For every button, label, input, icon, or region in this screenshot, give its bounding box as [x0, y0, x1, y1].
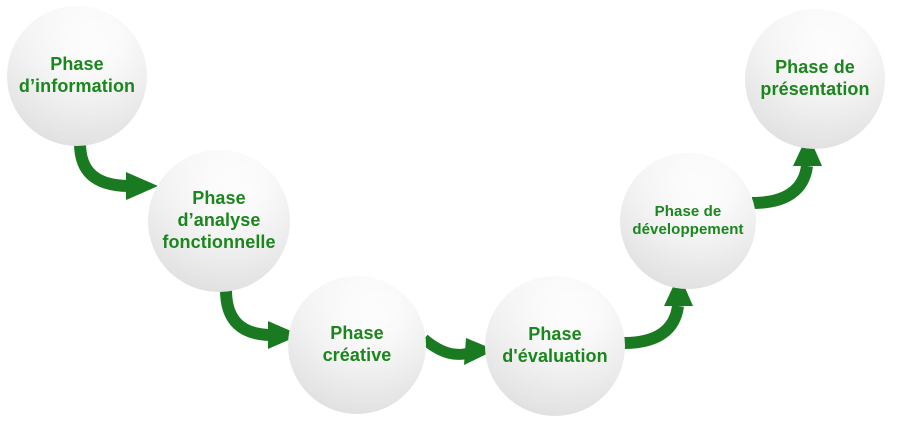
node-label: Phase d'évaluation	[498, 324, 612, 368]
arrow-shaft	[226, 290, 272, 335]
node-phase-evaluation[interactable]: Phase d'évaluation	[485, 276, 625, 416]
node-label: Phase de présentation	[756, 57, 873, 101]
node-label: Phase d’analyse fonctionnelle	[158, 188, 279, 254]
node-phase-information[interactable]: Phase d’information	[7, 6, 147, 146]
node-phase-presentation[interactable]: Phase de présentation	[745, 9, 885, 149]
process-flow-diagram: Phase d’informationPhase d’analyse fonct…	[0, 0, 914, 440]
node-label: Phase créative	[319, 323, 396, 367]
node-phase-analyse-fonctionnelle[interactable]: Phase d’analyse fonctionnelle	[148, 150, 290, 292]
node-label: Phase d’information	[15, 54, 139, 98]
arrow-shaft	[752, 166, 807, 203]
node-phase-developpement[interactable]: Phase de développement	[620, 153, 756, 289]
arrow-shaft	[80, 143, 130, 186]
arrow-information-to-analyse	[80, 143, 158, 200]
node-phase-creative[interactable]: Phase créative	[288, 276, 426, 414]
arrow-shaft	[624, 306, 678, 343]
node-label: Phase de développement	[628, 203, 747, 240]
arrow-shaft	[424, 339, 472, 354]
